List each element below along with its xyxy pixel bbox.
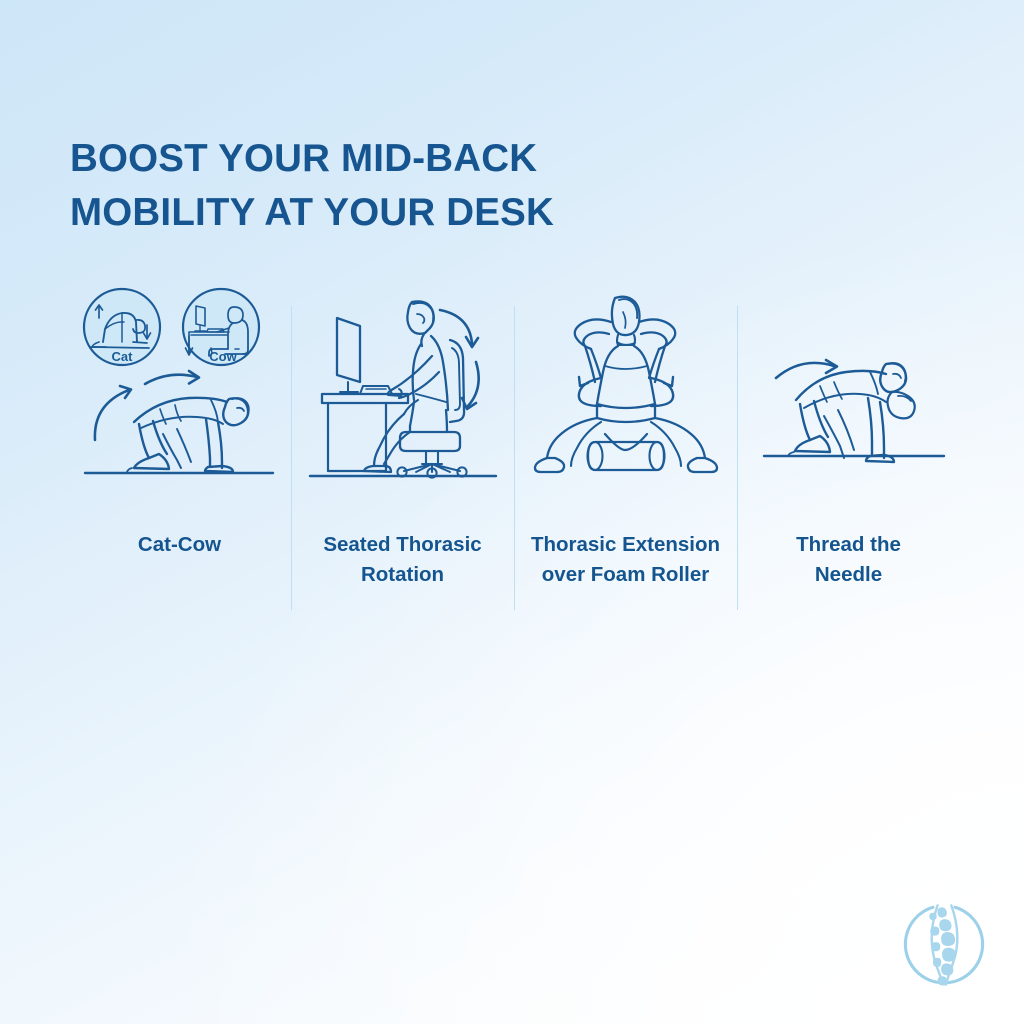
caption-line: over Foam Roller xyxy=(526,560,725,590)
infographic-poster: BOOST YOUR MID-BACK MOBILITY AT YOUR DES… xyxy=(0,0,1024,1024)
badge-cow-label: Cow xyxy=(209,349,237,364)
illustration-cat-cow: Cat xyxy=(68,282,291,494)
illustration-thread-the-needle xyxy=(737,282,960,494)
arrow-cat-to-cow xyxy=(145,371,199,384)
illustration-thorasic-extension-foam-roller xyxy=(514,282,737,494)
caption-thread-the-needle: Thread the Needle xyxy=(737,530,960,589)
legs-wide xyxy=(535,418,717,472)
caption-line: Thread the xyxy=(749,530,948,560)
badge-cow: Cow xyxy=(183,289,259,365)
spine-in-circle-logo xyxy=(898,898,990,990)
exercise-panel-cat-cow[interactable]: Cat xyxy=(68,282,291,610)
figure-head xyxy=(612,297,640,345)
exercise-panel-row: Cat xyxy=(68,282,960,610)
badge-cat-label: Cat xyxy=(112,349,134,364)
caption-seated-thorasic-rotation: Seated Thorasic Rotation xyxy=(291,530,514,589)
badge-cat: Cat xyxy=(84,289,160,365)
foam-roller xyxy=(588,442,665,470)
desk xyxy=(322,394,408,471)
caption-line: Needle xyxy=(749,560,948,590)
caption-thorasic-extension: Thorasic Extension over Foam Roller xyxy=(514,530,737,589)
illustration-seated-thorasic-rotation xyxy=(291,282,514,494)
figure-thread-the-needle xyxy=(788,363,915,462)
torso xyxy=(597,346,655,422)
caption-line: Cat-Cow xyxy=(80,530,279,560)
caption-line: Seated Thorasic xyxy=(303,530,502,560)
caption-line: Rotation xyxy=(303,560,502,590)
arrow-spine-flexion xyxy=(95,386,131,440)
title-line-1: BOOST YOUR MID-BACK xyxy=(70,132,790,187)
caption-line: Thorasic Extension xyxy=(526,530,725,560)
caption-cat-cow: Cat-Cow xyxy=(68,530,291,560)
exercise-panel-thread-the-needle[interactable]: Thread the Needle xyxy=(737,282,960,610)
figure-quadruped xyxy=(127,398,249,472)
page-title: BOOST YOUR MID-BACK MOBILITY AT YOUR DES… xyxy=(70,132,790,241)
monitor xyxy=(337,318,360,392)
exercise-panel-thorasic-extension[interactable]: Thorasic Extension over Foam Roller xyxy=(514,282,737,610)
title-line-2: MOBILITY AT YOUR DESK xyxy=(70,186,790,241)
exercise-panel-seated-thorasic-rotation[interactable]: Seated Thorasic Rotation xyxy=(291,282,514,610)
arrow-thread xyxy=(776,360,837,378)
arrow-rotation-upper xyxy=(440,310,478,347)
